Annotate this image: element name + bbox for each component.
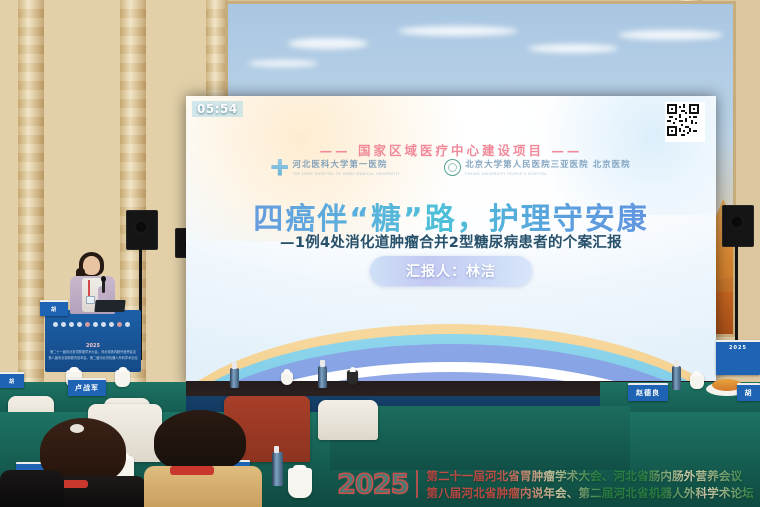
hospital-1-name-en: THE FIRST HOSPITAL OF HEBEI MEDICAL UNIV… (292, 172, 400, 176)
presenter-badge: 汇报人：林洁 (370, 256, 532, 286)
event-banner: 2025 第二十一届河北省胃肿瘤学术大会、河北省肠内肠外营养会议 第八届河北省肿… (0, 461, 760, 507)
qr-code-icon[interactable] (665, 102, 705, 142)
presentation-slide: 05:54 (186, 96, 716, 386)
placard-right-1: 赵德良 (628, 383, 668, 401)
banner-year: 2025 (337, 469, 408, 500)
chair (318, 400, 378, 440)
conference-photo: 05:54 (0, 0, 760, 507)
microphone-icon (102, 280, 105, 293)
teacup (115, 370, 130, 387)
presenter-badge-card (86, 296, 95, 304)
seal-icon (444, 159, 461, 176)
hospital-2-name-en: PEKING UNIVERSITY PEOPLE'S HOSPITAL (465, 172, 630, 176)
podium-line-1: 第二十一届河北省胃肿瘤学术大会、河北省肠内肠外营养会议 (45, 350, 141, 354)
banner-text: 第二十一届河北省胃肿瘤学术大会、河北省肠内肠外营养会议 第八届河北省肿瘤内说年会… (426, 468, 754, 501)
slide-project-header: —— 国家区域医疗中心建设项目 —— (186, 140, 716, 159)
teacup (281, 372, 293, 385)
water-bottle (318, 366, 327, 388)
podium-year: 2025 (45, 343, 141, 349)
water-bottle (230, 368, 239, 388)
hospital-logo-row: 河北医科大学第一医院 THE FIRST HOSPITAL OF HEBEI M… (186, 158, 716, 176)
thermos (347, 370, 358, 385)
slide-subtitle: —1例4处消化道肿瘤合并2型糖尿病患者的个案汇报 (186, 231, 716, 252)
banner-line-2: 第八届河北省肿瘤内说年会、第二届河北省机器人外科学术论坛 (426, 485, 754, 501)
podium-laptop (94, 300, 125, 312)
placard-back-right: 2025 (716, 340, 760, 375)
speaker-podium: 2025 第二十一届河北省胃肿瘤学术大会、河北省肠内肠外营养会议 第八届河北省肿… (45, 310, 141, 372)
cross-icon (271, 159, 288, 176)
hospital-1-name-cn: 河北医科大学第一医院 (292, 158, 400, 170)
hospital-logo-2: 北京大学第人民医院三亚医院 北京医院 PEKING UNIVERSITY PEO… (444, 158, 630, 176)
banner-line-1: 第二十一届河北省胃肿瘤学术大会、河北省肠内肠外营养会议 (426, 468, 754, 484)
placard-podium: 胡 (40, 300, 68, 316)
loudspeaker-right (722, 205, 754, 247)
podium-line-2: 第八届河北省肿瘤内说年会、第二届河北省机器人外科学术论坛 (45, 356, 141, 360)
hair-clip (70, 424, 84, 433)
wall-column-1 (18, 0, 44, 400)
presentation-timer: 05:54 (192, 101, 243, 117)
projection-screen: 05:54 (186, 96, 716, 386)
teacup (690, 374, 704, 389)
water-bottle (672, 366, 681, 390)
placard-left-edge: 胡 (0, 372, 24, 388)
loudspeaker-left (126, 210, 158, 250)
hospital-2-name-cn: 北京大学第人民医院三亚医院 北京医院 (465, 158, 630, 170)
podium-sponsor-dots (53, 322, 130, 327)
placard-left-1: 卢战军 (68, 378, 106, 396)
presenter-lanyard (88, 280, 90, 296)
placard-right-2: 胡 (737, 383, 760, 401)
presenter-head (83, 256, 100, 275)
banner-divider (416, 470, 418, 498)
hospital-logo-1: 河北医科大学第一医院 THE FIRST HOSPITAL OF HEBEI M… (271, 158, 400, 176)
